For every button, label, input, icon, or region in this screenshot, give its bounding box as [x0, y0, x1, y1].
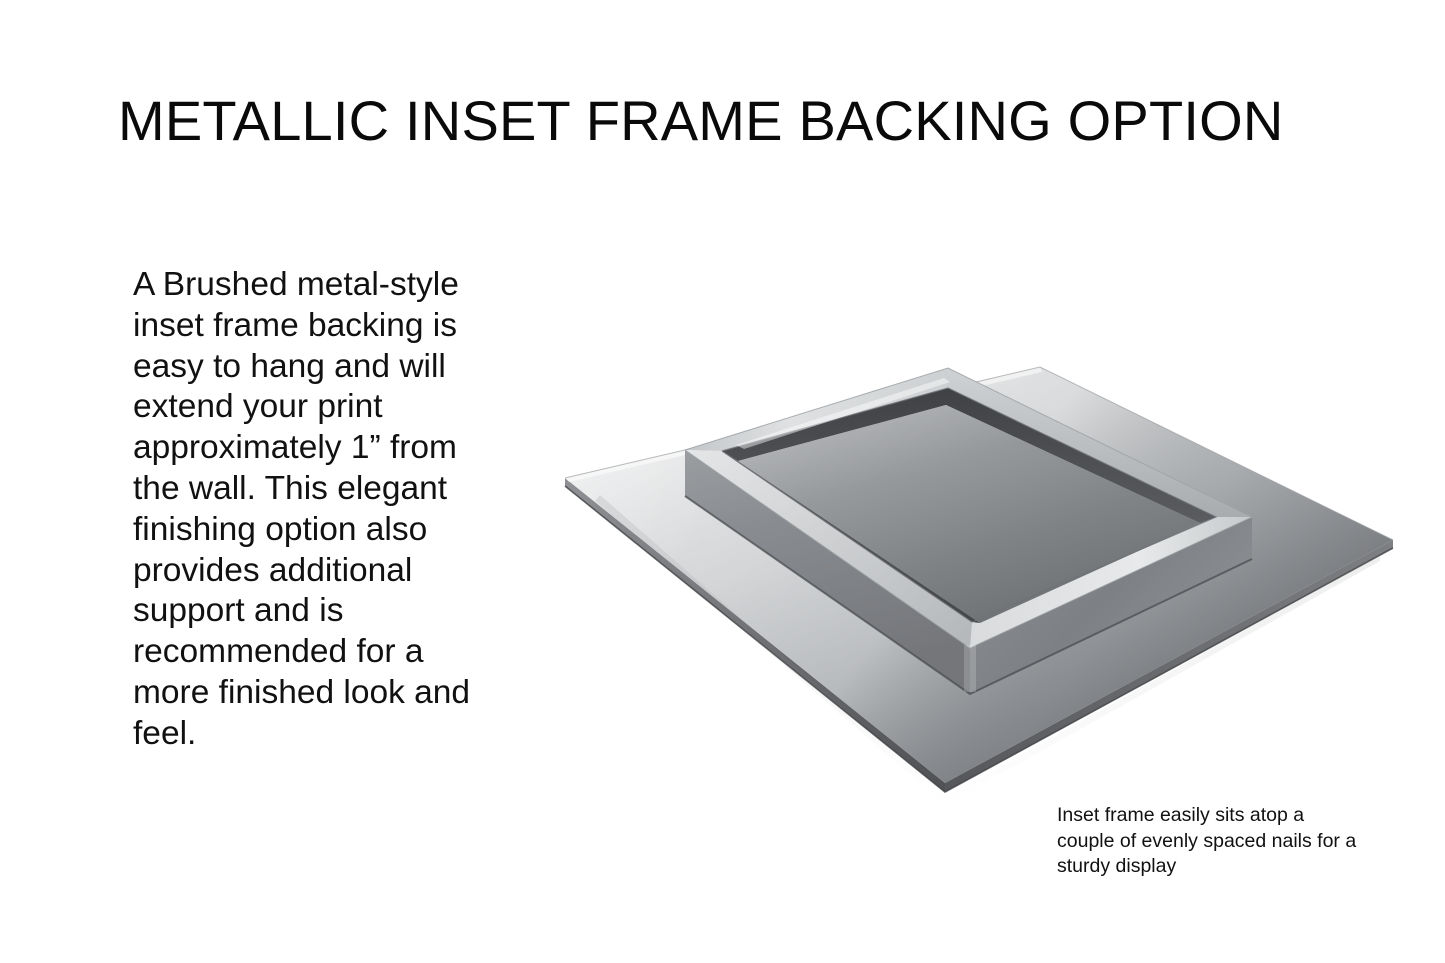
slide-canvas: METALLIC INSET FRAME BACKING OPTION A Br…: [0, 0, 1445, 963]
inset-frame-illustration-svg: [540, 345, 1420, 805]
page-title: METALLIC INSET FRAME BACKING OPTION: [118, 90, 1338, 152]
body-paragraph: A Brushed metal-style inset frame backin…: [133, 265, 485, 755]
illustration-caption: Inset frame easily sits atop a couple of…: [1057, 803, 1362, 880]
metallic-inset-frame-image: [540, 345, 1420, 805]
frame-corner-highlight: [964, 645, 976, 692]
